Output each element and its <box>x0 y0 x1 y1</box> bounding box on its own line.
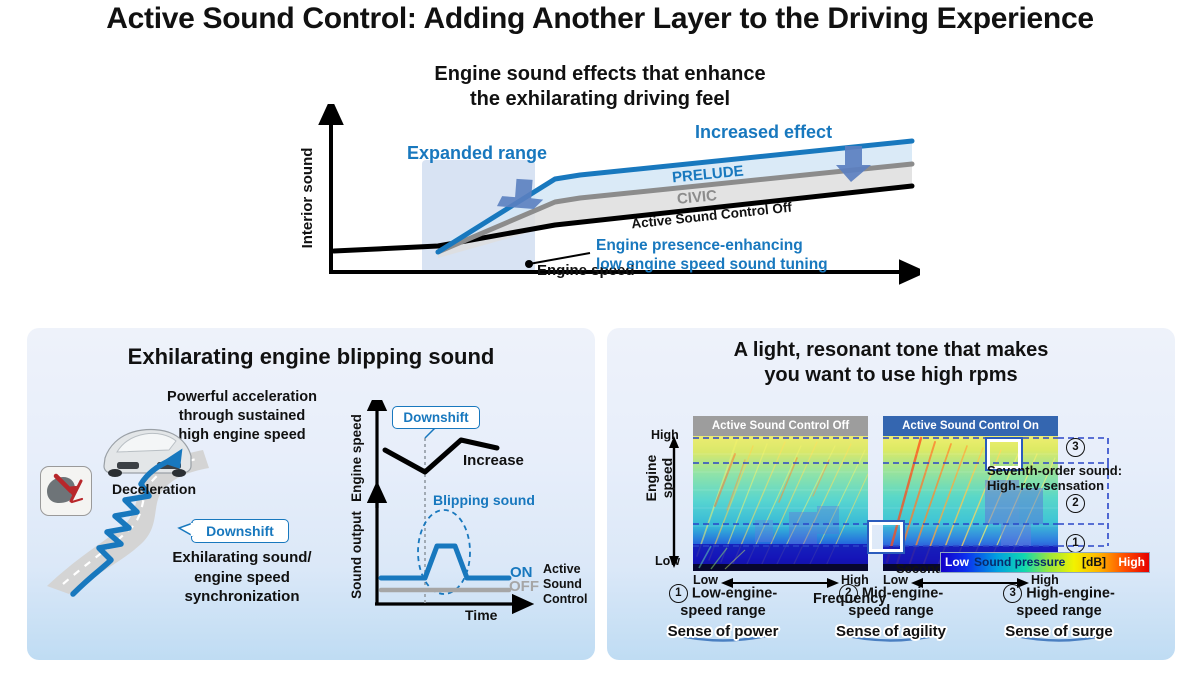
hero-chart: Interior sound Engine speed Expanded ran… <box>290 104 920 309</box>
hero-subtitle-line1: Engine sound effects that enhance <box>0 62 1200 87</box>
left-panel-title: Exhilarating engine blipping sound <box>27 344 595 370</box>
graph-lower-y-label: Sound output <box>349 511 364 599</box>
range-3-title-line1: High-engine- <box>1026 585 1115 601</box>
range-1-title: 1 Low-engine- speed range <box>643 584 803 620</box>
blipping-sound-label: Blipping sound <box>433 492 535 508</box>
range-2-number: 2 <box>839 584 858 603</box>
deceleration-label: Deceleration <box>112 481 196 497</box>
left-caption-bottom-line3: synchronization <box>127 587 357 607</box>
range-2-title: 2 Mid-engine- speed range <box>811 584 971 620</box>
downshift-tag-road: Downshift <box>191 519 289 543</box>
second-order-highlight-box <box>869 522 903 552</box>
spectrogram-asc-on: Active Sound Control On <box>883 436 1058 571</box>
colorbar-low-label: Low <box>945 554 969 570</box>
range-3-number: 3 <box>1003 584 1022 603</box>
range-3-title: 3 High-engine- speed range <box>979 584 1139 620</box>
colorbar-gradient: Low Sound pressure [dB] High <box>940 552 1150 573</box>
spectrogram-figure: Active Sound Control Off <box>607 376 1175 576</box>
asc-on-trace <box>381 546 509 578</box>
spec-y-axis-label: Engine speed <box>643 438 675 518</box>
spectrogram-asc-off: Active Sound Control Off <box>693 436 868 571</box>
increase-label: Increase <box>463 452 524 469</box>
hero-y-axis-label: Interior sound <box>299 148 316 249</box>
range-1-title-line1: Low-engine- <box>692 585 777 601</box>
increased-effect-label: Increased effect <box>695 122 832 143</box>
left-caption-bottom-line2: engine speed <box>127 568 357 588</box>
low-speed-tuning-line2: low engine speed sound tuning <box>596 256 828 275</box>
right-panel-title-line1: A light, resonant tone that makes <box>607 338 1175 363</box>
range-3-sense: Sense of surge <box>979 623 1139 640</box>
graph-x-label: Time <box>465 607 497 623</box>
range-1-number: 1 <box>669 584 688 603</box>
spectrogram-off-header: Active Sound Control Off <box>693 416 868 436</box>
seventh-order-callout-line1: Seventh-order sound: <box>987 463 1122 478</box>
asc-off-label-graph: OFF <box>509 578 539 595</box>
seventh-order-callout-line2: High-rev sensation <box>987 478 1122 493</box>
band-marker-1: 1 <box>1066 534 1085 553</box>
page-title: Active Sound Control: Adding Another Lay… <box>0 2 1200 36</box>
left-caption-bottom-line1: Exhilarating sound/ <box>127 548 357 568</box>
range-3-title-line2: speed range <box>979 603 1139 620</box>
graph-upper-y-label: Engine speed <box>349 414 364 502</box>
range-2-sense: Sense of agility <box>811 623 971 640</box>
sound-pressure-colorbar: Low Sound pressure [dB] High <box>940 552 1148 571</box>
low-speed-tuning-line1: Engine presence-enhancing <box>596 237 828 256</box>
colorbar-title: Sound pressure <box>974 554 1065 570</box>
range-item-3: 3 High-engine- speed range Sense of surg… <box>979 584 1139 644</box>
asc-legend: Active Sound Control <box>543 562 587 606</box>
asc-legend-line2: Sound <box>543 577 587 592</box>
expanded-range-label: Expanded range <box>407 143 547 164</box>
seventh-order-callout: Seventh-order sound: High-rev sensation <box>987 463 1122 494</box>
blipping-graph: Engine speed Sound output Downshift Incr… <box>337 400 587 630</box>
spectrogram-on-header: Active Sound Control On <box>883 416 1058 436</box>
left-caption-top-line1: Powerful acceleration <box>127 388 357 407</box>
downshift-tag-graph: Downshift <box>392 406 480 429</box>
downshift-tag-tail <box>177 519 195 541</box>
low-speed-tuning-callout: Engine presence-enhancing low engine spe… <box>596 237 828 275</box>
left-caption-bottom: Exhilarating sound/ engine speed synchro… <box>127 548 357 607</box>
colorbar-unit: [dB] <box>1082 554 1106 570</box>
asc-legend-line1: Active <box>543 562 587 577</box>
colorbar-high-label: High <box>1118 554 1145 570</box>
range-2-title-line2: speed range <box>811 603 971 620</box>
range-item-1: 1 Low-engine- speed range Sense of power <box>643 584 803 644</box>
band-marker-3: 3 <box>1066 438 1085 457</box>
range-1-sense: Sense of power <box>643 623 803 640</box>
band-marker-2: 2 <box>1066 494 1085 513</box>
panel-blipping-sound: Exhilarating engine blipping sound Power… <box>27 328 595 660</box>
range-1-title-line2: speed range <box>643 603 803 620</box>
asc-legend-line3: Control <box>543 592 587 607</box>
panel-resonant-tone: A light, resonant tone that makes you wa… <box>607 328 1175 660</box>
range-2-title-line1: Mid-engine- <box>862 585 943 601</box>
pedal-deceleration-icon <box>40 466 92 516</box>
range-item-2: 2 Mid-engine- speed range Sense of agili… <box>811 584 971 644</box>
